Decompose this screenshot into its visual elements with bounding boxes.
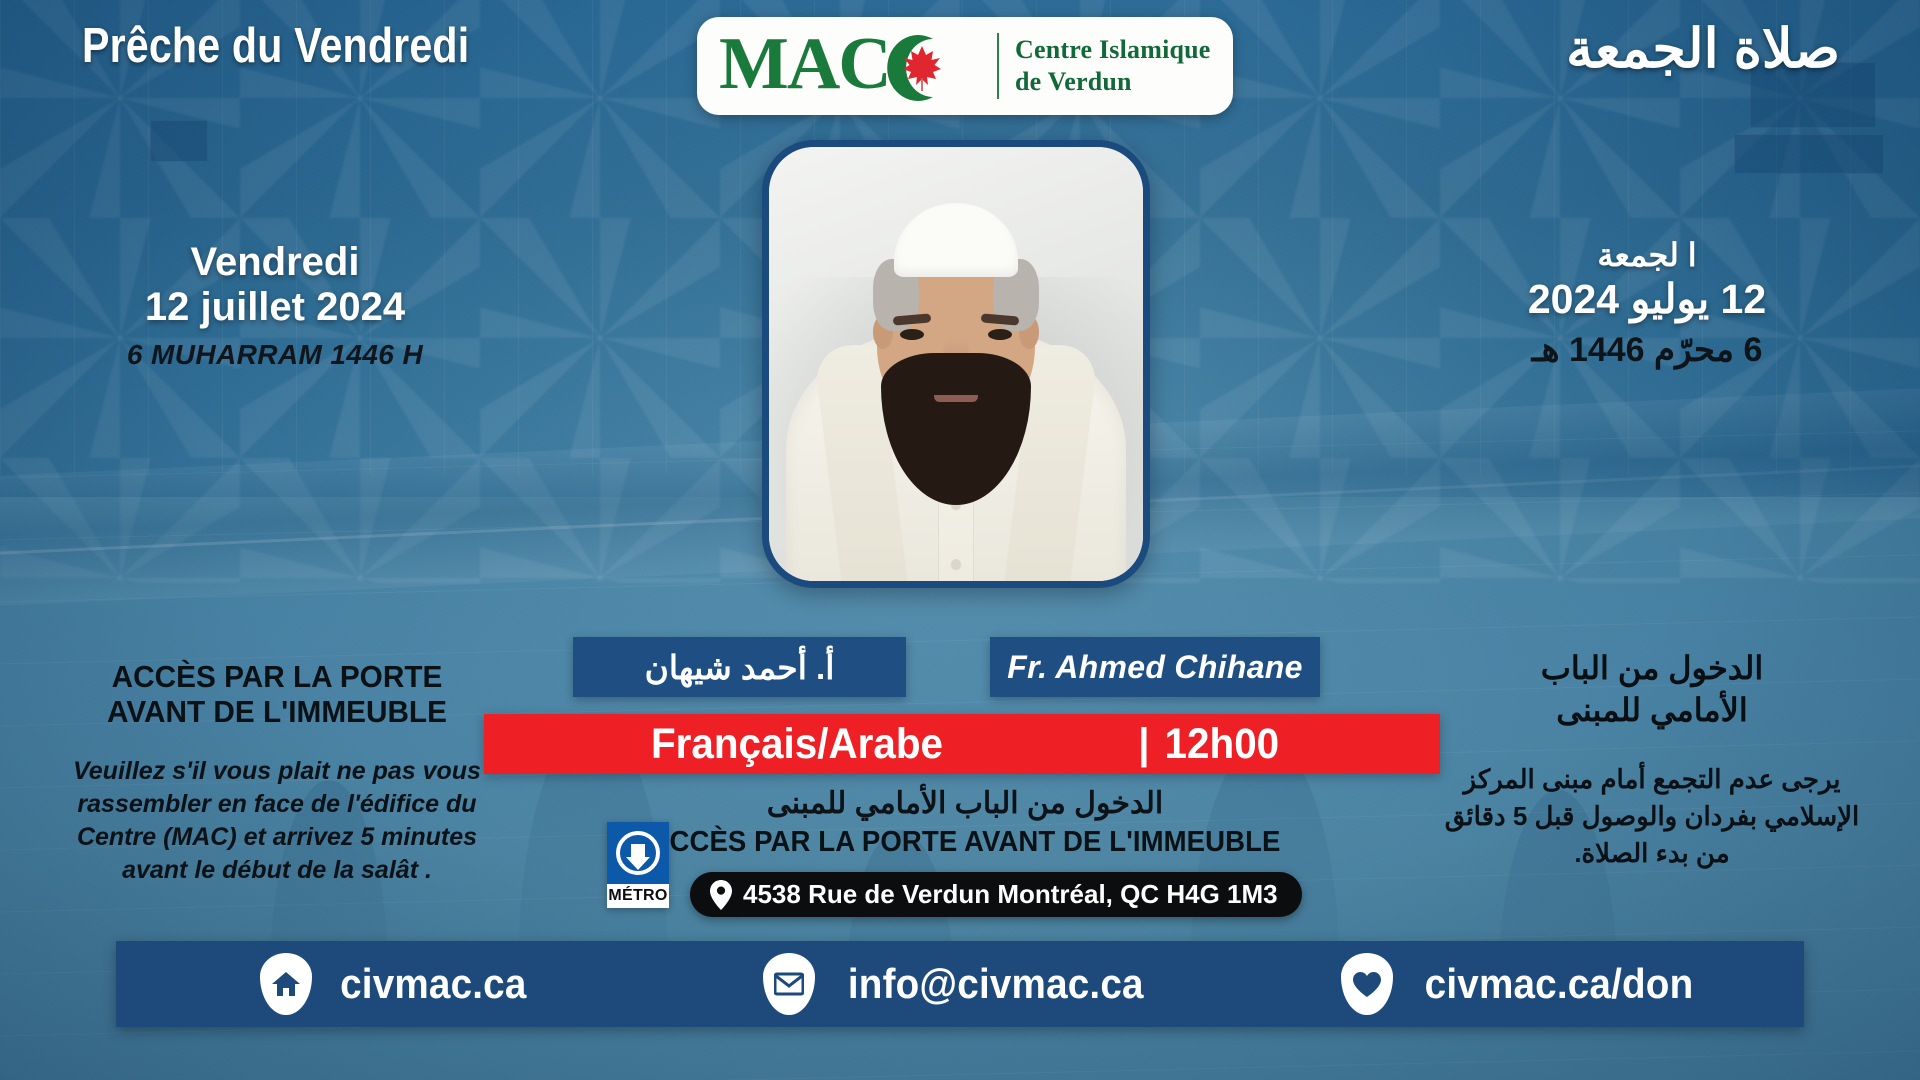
address-pill[interactable]: 4538 Rue de Verdun Montréal, QC H4G 1M3 xyxy=(690,872,1302,917)
portrait-button-2 xyxy=(951,559,961,569)
mac-wordmark: MAC xyxy=(719,26,890,102)
language-time-banner: Français/Arabe | 12h00 xyxy=(484,714,1440,774)
center-access-arabic: الدخول من الباب الأمامي للمبنى xyxy=(540,786,1390,822)
maple-leaf-icon xyxy=(902,45,942,91)
note-arabic-body: يرجى عدم التجمع أمام مبنى المركز الإسلام… xyxy=(1442,761,1862,872)
footer-label-email: info@civmac.ca xyxy=(848,960,1144,1008)
page-title-arabic: صلاة الجمعة xyxy=(1566,22,1840,76)
footer-label-donate: civmac.ca/don xyxy=(1424,960,1693,1008)
friday-prayer-poster: Prêche du Vendredi صلاة الجمعة MAC Centr… xyxy=(0,0,1920,1080)
heart-icon xyxy=(1341,953,1393,1015)
date-hijri-fr: 6 MUHARRAM 1446 H xyxy=(60,339,490,371)
date-weekday-fr: Vendredi xyxy=(60,240,490,285)
location-pin-icon xyxy=(710,880,732,910)
footer-item-donate[interactable]: civmac.ca/don xyxy=(1241,953,1804,1015)
footer-item-website[interactable]: civmac.ca xyxy=(116,953,679,1015)
mac-logo-mark: MAC xyxy=(719,28,981,104)
speaker-name-arabic: أ. أحمد شيهان xyxy=(645,648,835,687)
note-french-heading-line1: ACCÈS PAR LA PORTE xyxy=(71,660,484,695)
note-arabic-heading-line1: الدخول من الباب xyxy=(1442,648,1862,690)
metro-logo: MÉTRO xyxy=(607,822,669,908)
center-access-french: ACCÈS PAR LA PORTE AVANT DE L'IMMEUBLE xyxy=(561,826,1369,859)
mac-logo: MAC Centre Islamique de Verdun xyxy=(697,17,1233,115)
note-french-heading: ACCÈS PAR LA PORTE AVANT DE L'IMMEUBLE xyxy=(71,660,484,729)
speaker-name-arabic-bar: أ. أحمد شيهان xyxy=(573,637,906,697)
home-icon xyxy=(260,953,312,1015)
date-block-arabic: ا لجمعة 12 يوليو 2024 6 محرّم 1446 هـ xyxy=(1432,236,1862,372)
note-french: ACCÈS PAR LA PORTE AVANT DE L'IMMEUBLE V… xyxy=(62,660,492,887)
portrait-eye-right xyxy=(988,329,1012,340)
metro-symbol xyxy=(607,822,669,884)
banner-time-group: | 12h00 xyxy=(1110,720,1420,769)
speaker-name-french: Fr. Ahmed Chihane xyxy=(1007,649,1303,686)
logo-subtitle: Centre Islamique de Verdun xyxy=(1015,34,1211,97)
note-arabic: الدخول من الباب الأمامي للمبنى يرجى عدم … xyxy=(1442,648,1862,872)
note-french-heading-line2: AVANT DE L'IMMEUBLE xyxy=(71,695,484,730)
portrait-moustache xyxy=(919,377,993,395)
note-arabic-heading: الدخول من الباب الأمامي للمبنى xyxy=(1442,648,1862,731)
banner-pipe: | xyxy=(1138,720,1149,769)
envelope-icon xyxy=(763,953,815,1015)
date-weekday-ar: ا لجمعة xyxy=(1432,236,1862,274)
logo-subtitle-line2: de Verdun xyxy=(1015,66,1211,98)
footer-label-website: civmac.ca xyxy=(340,960,526,1008)
banner-time: 12h00 xyxy=(1165,720,1280,769)
contact-footer: civmac.ca info@civmac.ca civmac.ca/don xyxy=(116,941,1804,1027)
portrait-eye-left xyxy=(900,329,924,340)
metro-label: MÉTRO xyxy=(608,884,667,908)
banner-language: Français/Arabe xyxy=(503,720,1091,769)
page-title-french: Prêche du Vendredi xyxy=(82,22,519,71)
footer-item-email[interactable]: info@civmac.ca xyxy=(679,953,1242,1015)
address-text: 4538 Rue de Verdun Montréal, QC H4G 1M3 xyxy=(743,879,1278,910)
date-gregorian-fr: 12 juillet 2024 xyxy=(60,285,490,330)
date-block-french: Vendredi 12 juillet 2024 6 MUHARRAM 1446… xyxy=(60,240,490,371)
logo-subtitle-line1: Centre Islamique xyxy=(1015,34,1211,66)
speaker-name-french-bar: Fr. Ahmed Chihane xyxy=(990,637,1320,697)
logo-divider xyxy=(997,33,999,99)
note-arabic-heading-line2: الأمامي للمبنى xyxy=(1442,690,1862,732)
speaker-portrait xyxy=(762,140,1150,588)
date-hijri-ar: 6 محرّم 1446 هـ xyxy=(1432,328,1862,372)
metro-arrow-icon xyxy=(614,829,662,877)
note-french-body: Veuillez s'il vous plait ne pas vous ras… xyxy=(62,755,492,887)
date-gregorian-ar: 12 يوليو 2024 xyxy=(1432,274,1862,325)
